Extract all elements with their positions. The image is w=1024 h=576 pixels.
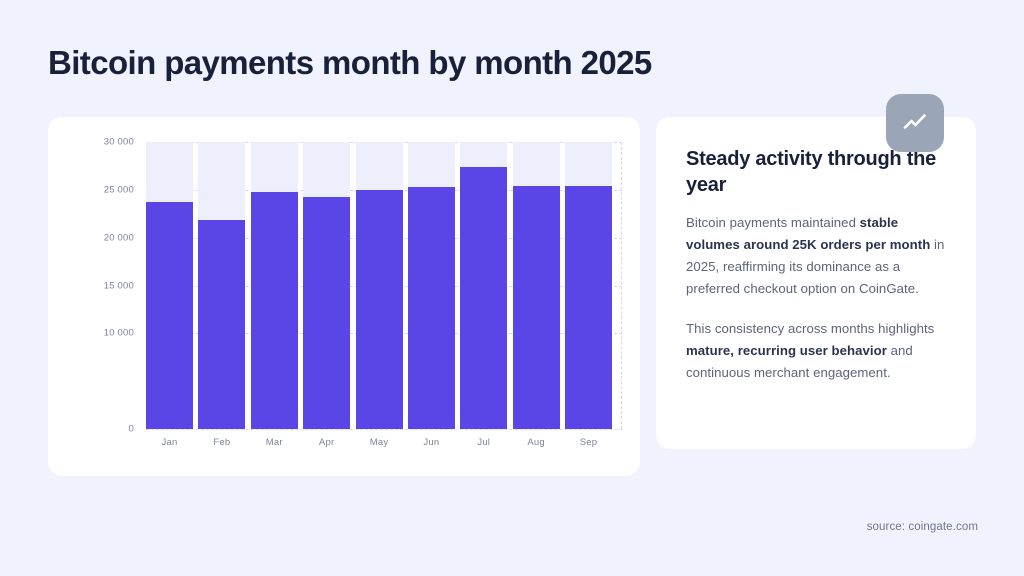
insight-card: Steady activity through the year Bitcoin… [656,117,976,449]
bar-series [146,142,622,429]
line-chart-trend-icon [886,94,944,152]
x-axis-tick-label: Apr [303,437,350,448]
y-axis-tick-label: 25 000 [104,184,134,195]
chart-plot-wrapper: 30 00025 00020 00015 00010 0000 JanFebMa… [74,142,622,458]
bar-fill[interactable] [146,202,193,429]
x-axis-tick-label: Aug [513,437,560,448]
insight-paragraph-2: This consistency across months highlight… [686,318,948,384]
y-axis-tick-label: 15 000 [104,280,134,291]
y-axis-tick-label: 20 000 [104,232,134,243]
paragraph-2-bold-1: mature, recurring user behavior [686,343,887,358]
x-axis-tick-label: Feb [198,437,245,448]
x-axis-tick-label: Sep [565,437,612,448]
page-title: Bitcoin payments month by month 2025 [48,44,652,82]
bar-fill[interactable] [460,167,507,429]
bar-column[interactable] [460,142,507,429]
bar-column[interactable] [356,142,403,429]
bar-column[interactable] [513,142,560,429]
y-axis-tick-label: 0 [129,424,134,435]
y-axis: 30 00025 00020 00015 00010 0000 [74,142,134,429]
bar-column[interactable] [565,142,612,429]
x-axis-tick-label: Jan [146,437,193,448]
bar-column[interactable] [408,142,455,429]
gridline [146,429,622,430]
bar-fill[interactable] [408,187,455,429]
x-axis: JanFebMarAprMayJunJulAugSep [146,437,622,448]
x-axis-tick-label: Mar [251,437,298,448]
bar-column[interactable] [198,142,245,429]
bar-column[interactable] [303,142,350,429]
x-axis-tick-label: Jun [408,437,455,448]
slide-canvas: Bitcoin payments month by month 2025 30 … [0,0,1024,576]
bar-fill[interactable] [565,186,612,429]
bar-column[interactable] [251,142,298,429]
bar-fill[interactable] [513,186,560,429]
plot-area [146,142,622,429]
bar-fill[interactable] [251,192,298,429]
insight-paragraph-1: Bitcoin payments maintained stable volum… [686,212,948,300]
insight-title: Steady activity through the year [686,147,948,198]
bar-fill[interactable] [198,220,245,429]
chart-card: 30 00025 00020 00015 00010 0000 JanFebMa… [48,117,640,476]
x-axis-tick-label: May [356,437,403,448]
y-axis-tick-label: 30 000 [104,137,134,148]
bar-column[interactable] [146,142,193,429]
x-axis-tick-label: Jul [460,437,507,448]
source-note: source: coingate.com [867,521,978,533]
bar-fill[interactable] [303,197,350,429]
y-axis-tick-label: 10 000 [104,328,134,339]
paragraph-2-text-1: This consistency across months highlight… [686,321,934,336]
paragraph-1-text-1: Bitcoin payments maintained [686,215,860,230]
bar-fill[interactable] [356,190,403,429]
